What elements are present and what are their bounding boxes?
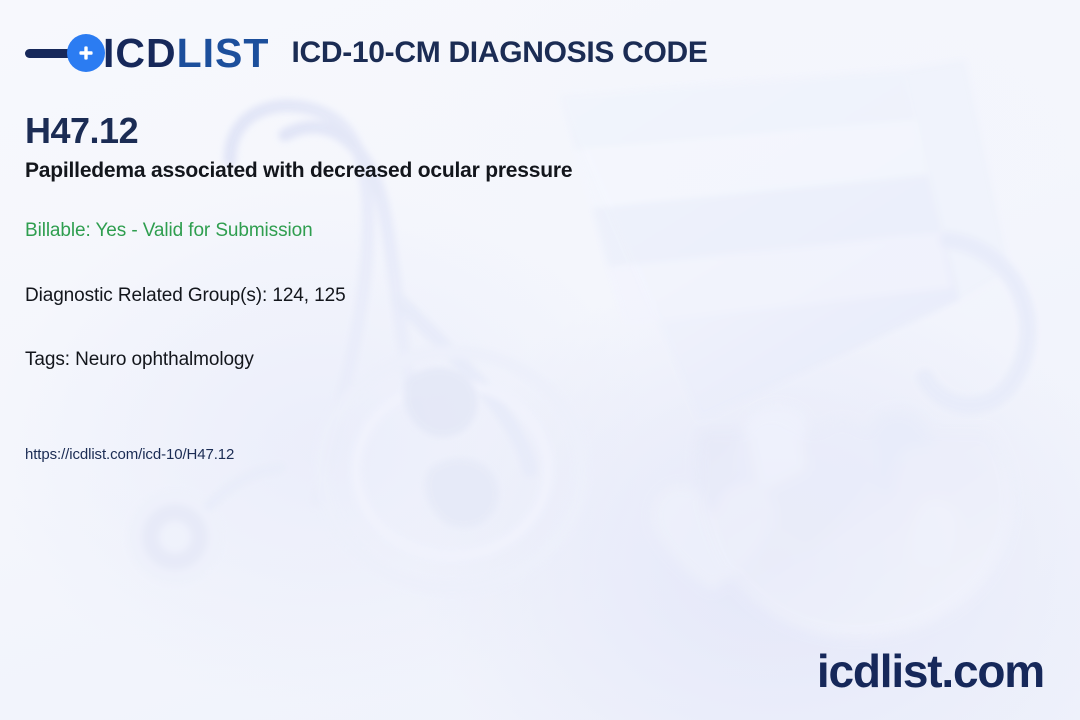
plus-circle-icon [67, 34, 105, 72]
logo-word-icd: ICD [103, 30, 177, 76]
diagnosis-description: Papilledema associated with decreased oc… [25, 158, 1040, 184]
code-details: H47.12 Papilledema associated with decre… [25, 112, 1040, 463]
page-header: ICDLIST ICD-10-CM DIAGNOSIS CODE [25, 26, 1055, 80]
source-url[interactable]: https://icdlist.com/icd-10/H47.12 [25, 446, 1040, 463]
logo-wordmark: ICDLIST [103, 33, 269, 74]
billable-status: Billable: Yes - Valid for Submission [25, 220, 1040, 242]
logo-word-list: LIST [177, 30, 270, 76]
diagnosis-code: H47.12 [25, 112, 1040, 150]
page-title: ICD-10-CM DIAGNOSIS CODE [291, 36, 707, 70]
diagnostic-related-groups: Diagnostic Related Group(s): 124, 125 [25, 285, 1040, 307]
tags-line: Tags: Neuro ophthalmology [25, 349, 1040, 371]
horizontal-dash-icon [25, 49, 73, 58]
icdlist-logo[interactable]: ICDLIST [25, 30, 269, 76]
footer-brand[interactable]: icdlist.com [817, 648, 1044, 694]
icd-code-card: ICDLIST ICD-10-CM DIAGNOSIS CODE H47.12 … [0, 0, 1080, 720]
